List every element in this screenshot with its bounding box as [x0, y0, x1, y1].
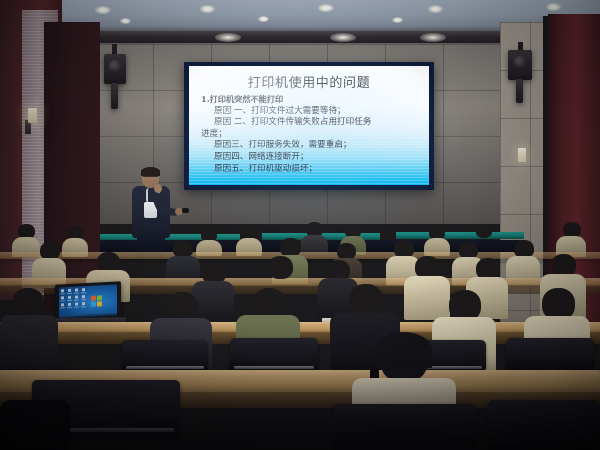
slide-line: 原因五、打印机驱动损坏；	[201, 164, 419, 176]
desktop-icon	[82, 295, 85, 298]
presenter-hair	[141, 167, 160, 176]
desktop-icon	[75, 296, 78, 299]
torso	[0, 400, 70, 450]
ceiling-downlight	[428, 5, 443, 13]
presentation-remote[interactable]	[182, 208, 189, 213]
audience-member	[236, 226, 262, 254]
desktop-icon-label	[74, 306, 79, 307]
wall-sconce-light-right	[518, 148, 526, 162]
desktop-icon	[68, 303, 71, 306]
desktop-icon-label	[67, 300, 72, 301]
desktop-icon	[68, 289, 71, 292]
hair	[376, 332, 432, 368]
desktop-icon-label	[81, 292, 86, 293]
desktop-icon	[68, 296, 71, 299]
ceiling-downlight	[318, 4, 334, 12]
slide-title: 打印机使用中的问题	[189, 72, 429, 91]
desktop-icon-label	[60, 293, 65, 294]
desktop-icon-label	[60, 307, 65, 308]
desktop-icon	[75, 289, 78, 292]
audience-member	[556, 222, 586, 256]
desktop-icon-label	[81, 306, 86, 307]
desktop-icon-label	[67, 293, 72, 294]
desktop-icon	[61, 303, 64, 306]
ceiling-downlight	[546, 3, 561, 11]
projection-screen[interactable]: 打印机使用中的问题 1.打印机突然不能打印 原因 一、打印文件过大需要等待； 原…	[189, 66, 429, 185]
ceiling-downlight	[392, 17, 403, 23]
desktop-icons-grid	[61, 288, 85, 311]
audience-member	[0, 288, 58, 380]
speaker-cone-left	[109, 60, 121, 72]
ceiling-downlight	[200, 5, 215, 13]
ceiling-downlight	[95, 6, 111, 14]
wall-sconce-light-left	[28, 108, 37, 123]
windows-flag-logo-icon	[91, 295, 104, 308]
laptop-screen[interactable]	[59, 284, 117, 318]
desktop-icon-label	[81, 299, 86, 300]
chair-rim	[234, 366, 314, 369]
slide-line: 原因三、打印服务失效，需要重启；	[201, 140, 419, 152]
chair-foreground[interactable]	[334, 404, 476, 450]
slide-line: 原因 二、打印文件传输失败占用打印任务	[201, 117, 419, 129]
audience-member-foreground	[0, 400, 70, 450]
slide-line-wrap: 进度；	[201, 129, 419, 141]
chair-foreground[interactable]	[488, 400, 600, 450]
desktop-icon	[82, 288, 85, 291]
audience-member	[424, 226, 450, 254]
slide-item-number: 1.打印机突然不能打印	[201, 94, 419, 106]
ceiling-downlight	[258, 16, 269, 22]
soffit-light-glow	[420, 33, 446, 42]
slide-line: 原因四、网络连接断开；	[201, 152, 419, 164]
slide-line: 原因 一、打印文件过大需要等待；	[201, 106, 419, 118]
ceiling-downlight	[120, 18, 131, 24]
desktop-icon-label	[67, 307, 72, 308]
necklace	[390, 384, 418, 393]
slide-body: 1.打印机突然不能打印 原因 一、打印文件过大需要等待； 原因 二、打印文件传输…	[201, 94, 419, 175]
conference-room-photo: 打印机使用中的问题 1.打印机突然不能打印 原因 一、打印文件过大需要等待； 原…	[0, 0, 600, 450]
desktop-icon-label	[74, 292, 79, 293]
glasses-icon	[143, 176, 158, 180]
speaker-post-left	[111, 83, 118, 109]
speaker-cone-right	[514, 56, 526, 68]
laptop[interactable]	[55, 283, 127, 327]
desktop-icon-label	[60, 300, 65, 301]
desktop-icon-label	[74, 299, 79, 300]
desktop-icon	[82, 302, 85, 305]
presenter-hand-raised	[154, 184, 162, 193]
soffit-light-glow	[215, 33, 241, 42]
desktop-icon	[75, 303, 78, 306]
chair-rim	[126, 366, 204, 369]
back-counter-band	[396, 232, 524, 239]
speaker-post-right	[516, 79, 523, 103]
desktop-icon	[61, 296, 64, 299]
soffit-light-glow	[330, 33, 356, 42]
presenter[interactable]	[120, 168, 182, 250]
desktop-icon	[61, 289, 64, 292]
chair[interactable]	[506, 338, 594, 370]
